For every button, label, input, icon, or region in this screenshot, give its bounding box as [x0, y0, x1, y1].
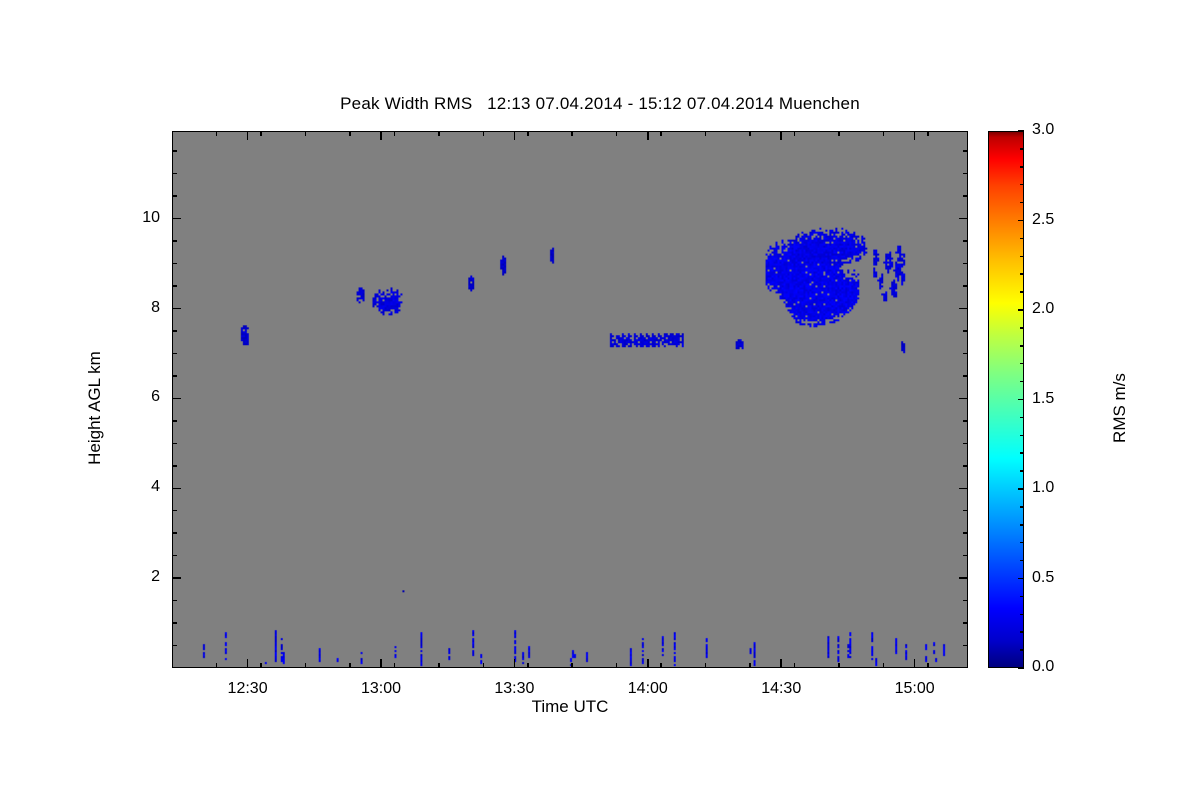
y-tick-minor [963, 510, 968, 512]
x-tick-minor [305, 663, 307, 668]
y-tick-major [172, 398, 181, 400]
x-tick-minor [705, 131, 707, 136]
x-tick-minor [216, 663, 218, 668]
y-tick-minor [172, 150, 177, 152]
colorbar-tick-minor [1020, 614, 1024, 616]
x-tick-minor [660, 131, 662, 136]
y-tick-major [172, 308, 181, 310]
x-tick-label: 14:30 [741, 680, 821, 698]
y-tick-minor [172, 443, 177, 445]
colorbar-tick-minor [1020, 560, 1024, 562]
x-tick-minor [527, 131, 529, 136]
colorbar-tick-minor [1020, 238, 1024, 240]
y-tick-minor [172, 555, 177, 557]
y-tick-label: 8 [120, 299, 160, 317]
y-tick-major [172, 488, 181, 490]
x-tick-major [514, 131, 516, 140]
colorbar-tick-minor [1020, 452, 1024, 454]
x-tick-major [247, 659, 249, 668]
x-axis-label: Time UTC [172, 697, 968, 717]
x-tick-major [380, 659, 382, 668]
y-tick-minor [172, 173, 177, 175]
colorbar-tick-label: 1.0 [1032, 479, 1092, 497]
y-tick-minor [172, 510, 177, 512]
colorbar-tick-minor [1020, 435, 1024, 437]
y-tick-minor [172, 240, 177, 242]
y-tick-major [959, 308, 968, 310]
y-tick-major [959, 398, 968, 400]
x-tick-minor [349, 663, 351, 668]
y-tick-minor [963, 645, 968, 647]
colorbar-tick-minor [1020, 417, 1024, 419]
x-tick-minor [483, 663, 485, 668]
y-tick-minor [963, 465, 968, 467]
y-tick-minor [172, 330, 177, 332]
y-tick-minor [172, 285, 177, 287]
x-tick-major [647, 131, 649, 140]
x-tick-minor [838, 663, 840, 668]
y-tick-minor [963, 555, 968, 557]
y-tick-major [172, 577, 181, 579]
x-tick-minor [527, 663, 529, 668]
x-tick-major [780, 131, 782, 140]
x-tick-minor [349, 131, 351, 136]
y-tick-major [172, 218, 181, 220]
x-tick-major [914, 131, 916, 140]
y-tick-label: 4 [120, 478, 160, 496]
y-tick-minor [172, 622, 177, 624]
y-tick-minor [963, 240, 968, 242]
colorbar-tick-minor [1020, 166, 1024, 168]
y-tick-label: 10 [120, 209, 160, 227]
y-tick-minor [963, 375, 968, 377]
colorbar-tick-label: 3.0 [1032, 121, 1092, 139]
x-tick-label: 15:00 [875, 680, 955, 698]
colorbar-tick-minor [1020, 327, 1024, 329]
colorbar-tick-minor [1020, 381, 1024, 383]
page-title: Peak Width RMS 12:13 07.04.2014 - 15:12 … [0, 94, 1200, 114]
x-tick-minor [927, 663, 929, 668]
colorbar-tick [1018, 667, 1024, 669]
x-tick-minor [260, 131, 262, 136]
y-tick-minor [172, 420, 177, 422]
x-tick-minor [883, 663, 885, 668]
x-tick-minor [616, 131, 618, 136]
colorbar-tick-minor [1020, 273, 1024, 275]
x-tick-major [780, 659, 782, 668]
x-tick-minor [616, 663, 618, 668]
y-tick-minor [963, 173, 968, 175]
x-tick-minor [438, 663, 440, 668]
y-tick-minor [963, 353, 968, 355]
plot-area [172, 131, 968, 668]
colorbar-tick [1018, 578, 1024, 580]
x-tick-major [514, 659, 516, 668]
colorbar-tick-minor [1020, 345, 1024, 347]
colorbar-tick-minor [1020, 291, 1024, 293]
x-tick-major [647, 659, 649, 668]
y-tick-minor [963, 263, 968, 265]
y-axis-label: Height AGL km [85, 308, 105, 508]
y-tick-major [959, 488, 968, 490]
colorbar-tick-minor [1020, 649, 1024, 651]
x-tick-minor [749, 131, 751, 136]
y-tick-minor [172, 263, 177, 265]
x-tick-minor [305, 131, 307, 136]
x-tick-minor [438, 131, 440, 136]
colorbar-tick-minor [1020, 596, 1024, 598]
x-tick-minor [571, 663, 573, 668]
y-tick-minor [172, 532, 177, 534]
x-tick-minor [660, 663, 662, 668]
x-tick-minor [794, 663, 796, 668]
y-tick-minor [963, 622, 968, 624]
y-tick-minor [172, 600, 177, 602]
colorbar-tick [1018, 130, 1024, 132]
colorbar-tick [1018, 220, 1024, 222]
x-tick-minor [216, 131, 218, 136]
x-tick-label: 13:30 [474, 680, 554, 698]
colorbar-tick-minor [1020, 631, 1024, 633]
colorbar-tick [1018, 309, 1024, 311]
colorbar-tick [1018, 488, 1024, 490]
colorbar-tick-label: 2.0 [1032, 300, 1092, 318]
y-tick-minor [172, 353, 177, 355]
y-tick-minor [963, 532, 968, 534]
x-tick-minor [394, 131, 396, 136]
colorbar-tick-label: 0.0 [1032, 658, 1092, 676]
colorbar-tick-minor [1020, 506, 1024, 508]
y-tick-minor [172, 465, 177, 467]
colorbar-tick-minor [1020, 148, 1024, 150]
colorbar-tick-minor [1020, 202, 1024, 204]
x-tick-minor [260, 663, 262, 668]
x-tick-minor [571, 131, 573, 136]
x-tick-label: 14:00 [608, 680, 688, 698]
y-tick-minor [963, 330, 968, 332]
colorbar-tick-minor [1020, 542, 1024, 544]
y-tick-minor [172, 195, 177, 197]
plot-page: Peak Width RMS 12:13 07.04.2014 - 15:12 … [0, 0, 1200, 800]
colorbar-tick-minor [1020, 524, 1024, 526]
y-tick-major [959, 218, 968, 220]
x-tick-minor [705, 663, 707, 668]
x-tick-minor [927, 131, 929, 136]
y-tick-minor [963, 195, 968, 197]
colorbar-tick-label: 1.5 [1032, 390, 1092, 408]
x-tick-minor [483, 131, 485, 136]
y-tick-minor [172, 375, 177, 377]
y-tick-label: 6 [120, 388, 160, 406]
colorbar-tick-label: 0.5 [1032, 569, 1092, 587]
heatmap-canvas [173, 132, 967, 667]
colorbar-tick [1018, 399, 1024, 401]
y-tick-minor [172, 645, 177, 647]
y-tick-major [959, 577, 968, 579]
colorbar-axis-label: RMS m/s [1110, 328, 1130, 488]
x-tick-major [914, 659, 916, 668]
colorbar-tick-minor [1020, 184, 1024, 186]
x-tick-minor [794, 131, 796, 136]
y-tick-label: 2 [120, 568, 160, 586]
y-tick-minor [963, 443, 968, 445]
colorbar-tick-label: 2.5 [1032, 211, 1092, 229]
x-tick-minor [838, 131, 840, 136]
y-tick-minor [963, 600, 968, 602]
x-tick-minor [749, 663, 751, 668]
x-tick-label: 12:30 [208, 680, 288, 698]
x-tick-major [380, 131, 382, 140]
colorbar-tick-minor [1020, 470, 1024, 472]
y-tick-minor [963, 285, 968, 287]
x-tick-minor [394, 663, 396, 668]
y-tick-minor [963, 420, 968, 422]
x-tick-major [247, 131, 249, 140]
colorbar-tick-minor [1020, 256, 1024, 258]
x-tick-minor [883, 131, 885, 136]
x-tick-label: 13:00 [341, 680, 421, 698]
colorbar-tick-minor [1020, 363, 1024, 365]
y-tick-minor [963, 150, 968, 152]
